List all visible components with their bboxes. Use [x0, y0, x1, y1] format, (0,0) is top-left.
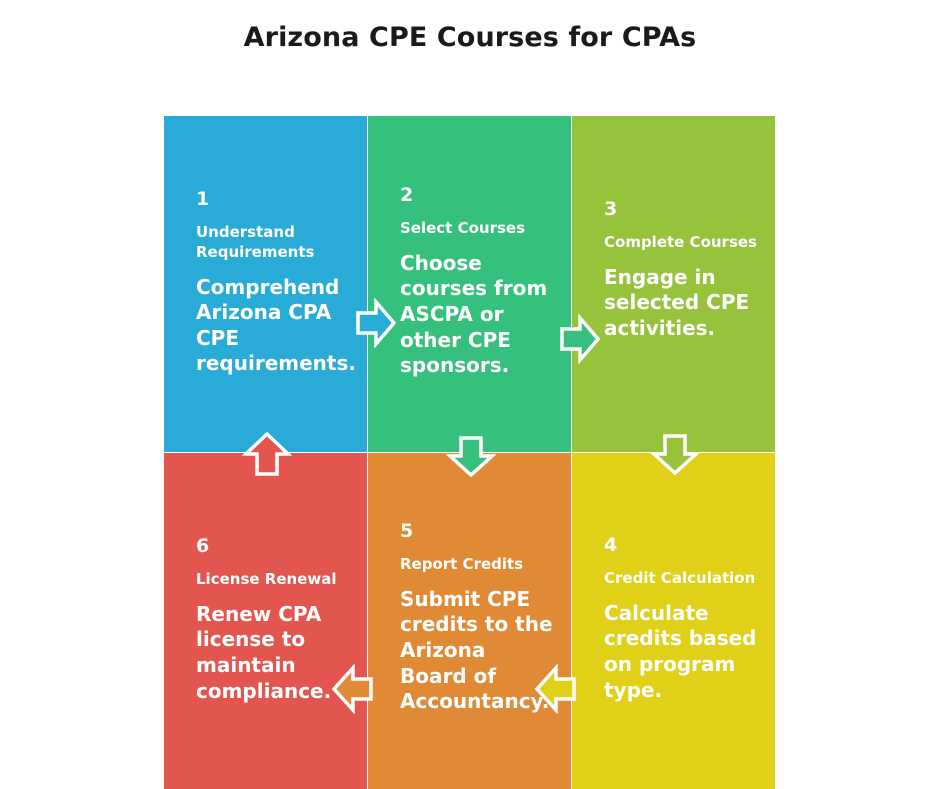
step-card-2[interactable]: 2 Select Courses Choose courses from ASC… [368, 116, 571, 452]
step-card-6[interactable]: 6 License Renewal Renew CPA license to m… [164, 453, 367, 789]
step-description-2: Choose courses from ASCPA or other CPE s… [400, 251, 555, 379]
process-grid: 1 Understand Requirements Comprehend Ari… [164, 116, 776, 788]
step-description-1: Comprehend Arizona CPA CPE requirements. [196, 275, 351, 377]
step-card-5[interactable]: 5 Report Credits Submit CPE credits to t… [368, 453, 571, 789]
step-heading-3: Complete Courses [604, 233, 759, 253]
step-number-3: 3 [604, 200, 759, 219]
step-heading-5: Report Credits [400, 555, 555, 575]
step-heading-2: Select Courses [400, 219, 555, 239]
infographic-canvas: Arizona CPE Courses for CPAs 1 Understan… [0, 0, 940, 788]
step-number-6: 6 [196, 537, 351, 556]
step-description-4: Calculate credits based on program type. [604, 601, 759, 703]
step-number-2: 2 [400, 186, 555, 205]
step-description-3: Engage in selected CPE activities. [604, 265, 759, 342]
step-heading-4: Credit Calculation [604, 569, 759, 589]
step-description-5: Submit CPE credits to the Arizona Board … [400, 587, 555, 715]
page-title: Arizona CPE Courses for CPAs [0, 22, 940, 53]
step-number-1: 1 [196, 190, 351, 209]
step-card-3[interactable]: 3 Complete Courses Engage in selected CP… [572, 116, 775, 452]
step-number-5: 5 [400, 522, 555, 541]
step-number-4: 4 [604, 536, 759, 555]
step-card-4[interactable]: 4 Credit Calculation Calculate credits b… [572, 453, 775, 789]
step-heading-6: License Renewal [196, 570, 351, 590]
step-card-1[interactable]: 1 Understand Requirements Comprehend Ari… [164, 116, 367, 452]
step-description-6: Renew CPA license to maintain compliance… [196, 602, 351, 704]
step-heading-1: Understand Requirements [196, 223, 351, 263]
